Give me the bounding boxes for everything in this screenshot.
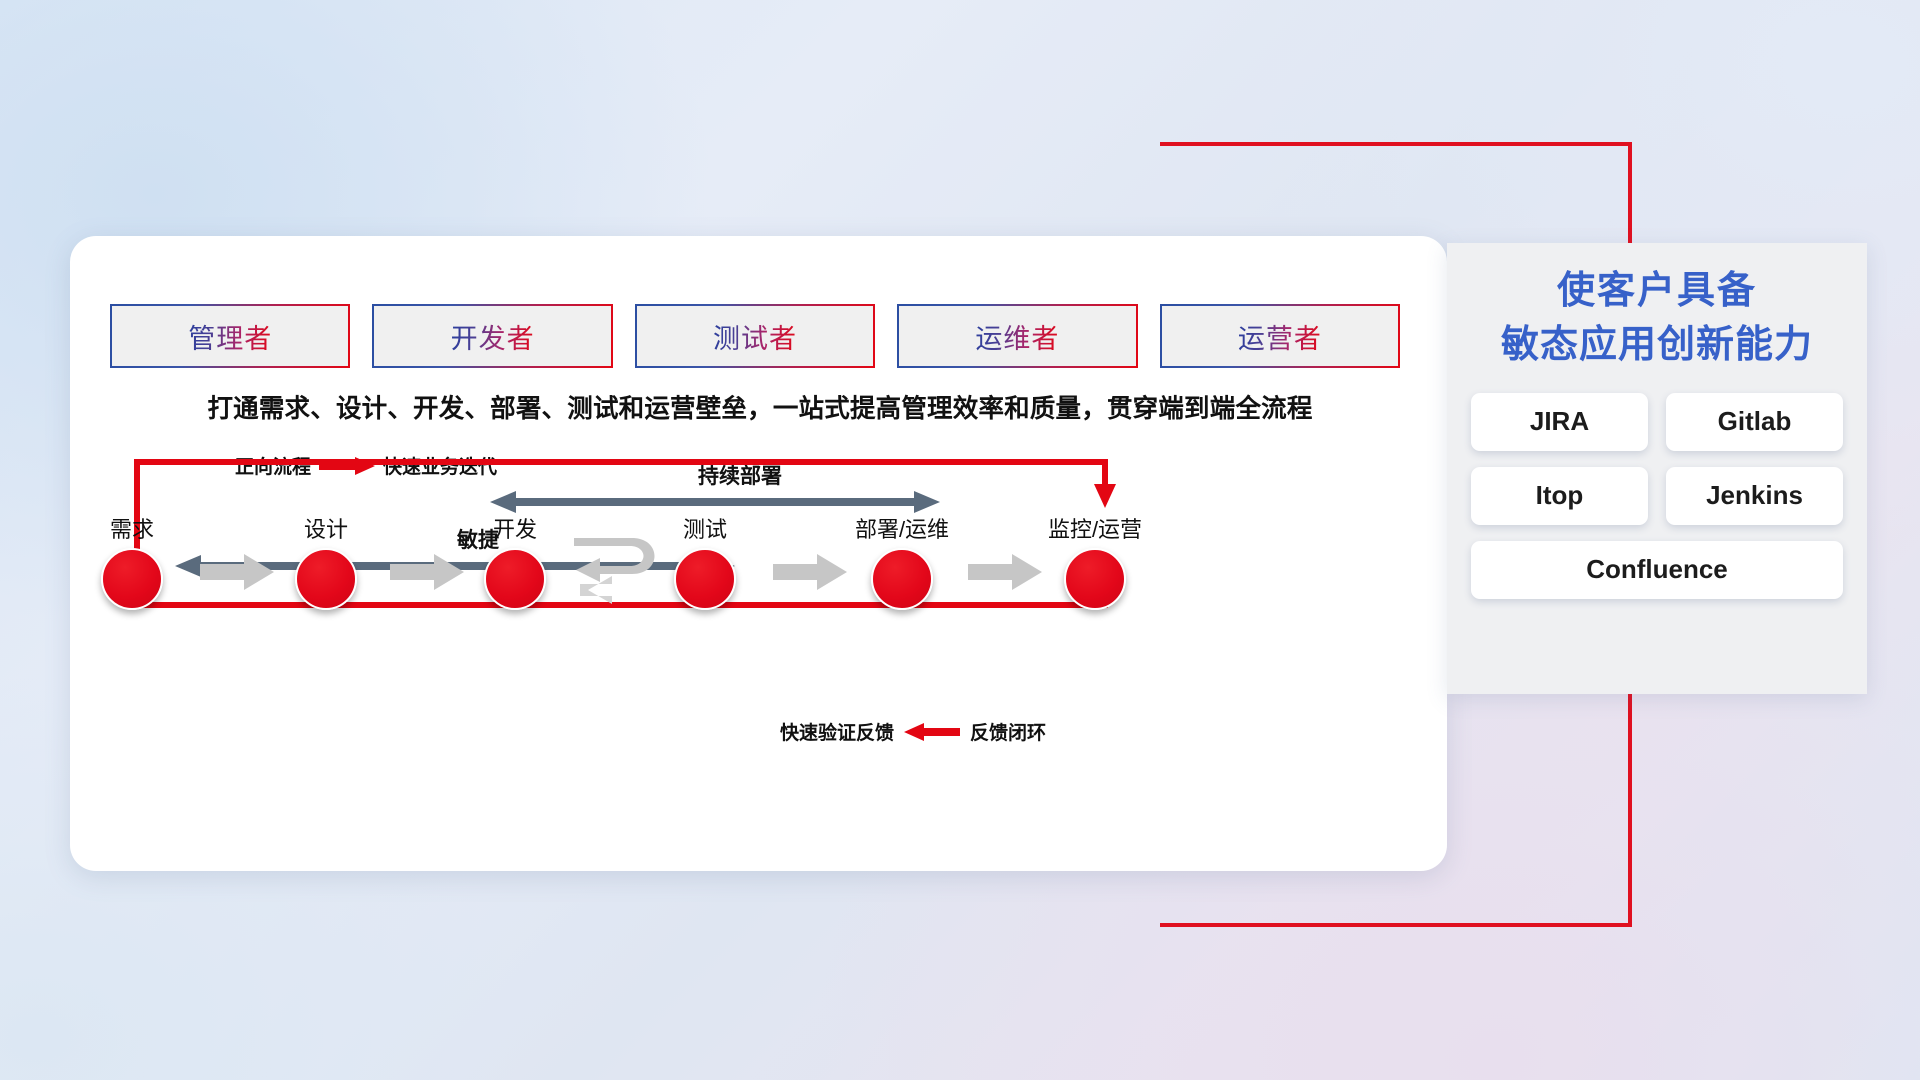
panel-title-line2: 敏态应用创新能力 (1471, 319, 1843, 373)
main-card: 管理者 开发者 测试者 运维者 运营者 打通需求、设计、开发、部署、测试和运营壁… (70, 236, 1447, 871)
role-label: 测试者 (713, 317, 797, 356)
stage-dot (1064, 548, 1126, 610)
panel-title: 使客户具备 敏态应用创新能力 (1471, 265, 1843, 373)
stage-monitor-operation[interactable]: 监控/运营 (1035, 512, 1155, 610)
connector-arrow-4-icon (968, 554, 1042, 590)
headline-text: 打通需求、设计、开发、部署、测试和运营壁垒，一站式提高管理效率和质量，贯穿端到端… (110, 388, 1410, 425)
stage-dot (674, 548, 736, 610)
right-panel: 使客户具备 敏态应用创新能力 JIRA Gitlab Itop Jenkins … (1447, 243, 1867, 694)
connector-arrow-2-icon (390, 554, 464, 590)
stage-label: 需求 (72, 512, 192, 544)
red-arrow-right-icon (319, 457, 375, 475)
legend-feedback-from-label: 快速验证反馈 (780, 718, 894, 745)
stage-dot (484, 548, 546, 610)
span-arrow-continuous-deployment (490, 490, 940, 514)
stage-dot (101, 548, 163, 610)
tool-chip-gitlab[interactable]: Gitlab (1666, 393, 1843, 451)
tool-chip-confluence[interactable]: Confluence (1471, 541, 1843, 599)
span-label-continuous-deployment: 持续部署 (590, 460, 890, 490)
panel-title-line1: 使客户具备 (1471, 265, 1843, 319)
tool-chip-jira[interactable]: JIRA (1471, 393, 1648, 451)
stage-label: 部署/运维 (842, 512, 962, 544)
stage-label: 监控/运营 (1035, 512, 1155, 544)
tool-chip-jenkins[interactable]: Jenkins (1666, 467, 1843, 525)
role-label: 管理者 (188, 317, 272, 356)
stage-design[interactable]: 设计 (266, 512, 386, 610)
loop-back-arrow-icon (570, 532, 666, 606)
connector-arrow-1-icon (200, 554, 274, 590)
red-arrow-left-icon (904, 723, 960, 741)
role-box-ops[interactable]: 运维者 (897, 304, 1137, 368)
stage-dot (871, 548, 933, 610)
stage-label: 设计 (266, 512, 386, 544)
legend-forward-to-label: 快速业务迭代 (383, 452, 497, 479)
stage-dot (295, 548, 357, 610)
stage-development[interactable]: 开发 (455, 512, 575, 610)
tool-chip-list: JIRA Gitlab Itop Jenkins Confluence (1471, 393, 1843, 599)
role-label: 运维者 (975, 317, 1059, 356)
stage-requirement[interactable]: 需求 (72, 512, 192, 610)
tool-chip-itop[interactable]: Itop (1471, 467, 1648, 525)
legend-forward-flow: 正向流程 快速业务迭代 (235, 452, 497, 479)
legend-feedback-loop: 快速验证反馈 反馈闭环 (780, 718, 1046, 745)
stage-label: 开发 (455, 512, 575, 544)
legend-feedback-to-label: 反馈闭环 (970, 718, 1046, 745)
role-box-manager[interactable]: 管理者 (110, 304, 350, 368)
role-box-operator[interactable]: 运营者 (1160, 304, 1400, 368)
role-box-row: 管理者 开发者 测试者 运维者 运营者 (110, 304, 1400, 368)
role-label: 开发者 (451, 317, 535, 356)
stage-deploy-ops[interactable]: 部署/运维 (842, 512, 962, 610)
legend-forward-from-label: 正向流程 (235, 452, 311, 479)
connector-arrow-3-icon (773, 554, 847, 590)
role-box-developer[interactable]: 开发者 (372, 304, 612, 368)
role-box-tester[interactable]: 测试者 (635, 304, 875, 368)
role-label: 运营者 (1238, 317, 1322, 356)
